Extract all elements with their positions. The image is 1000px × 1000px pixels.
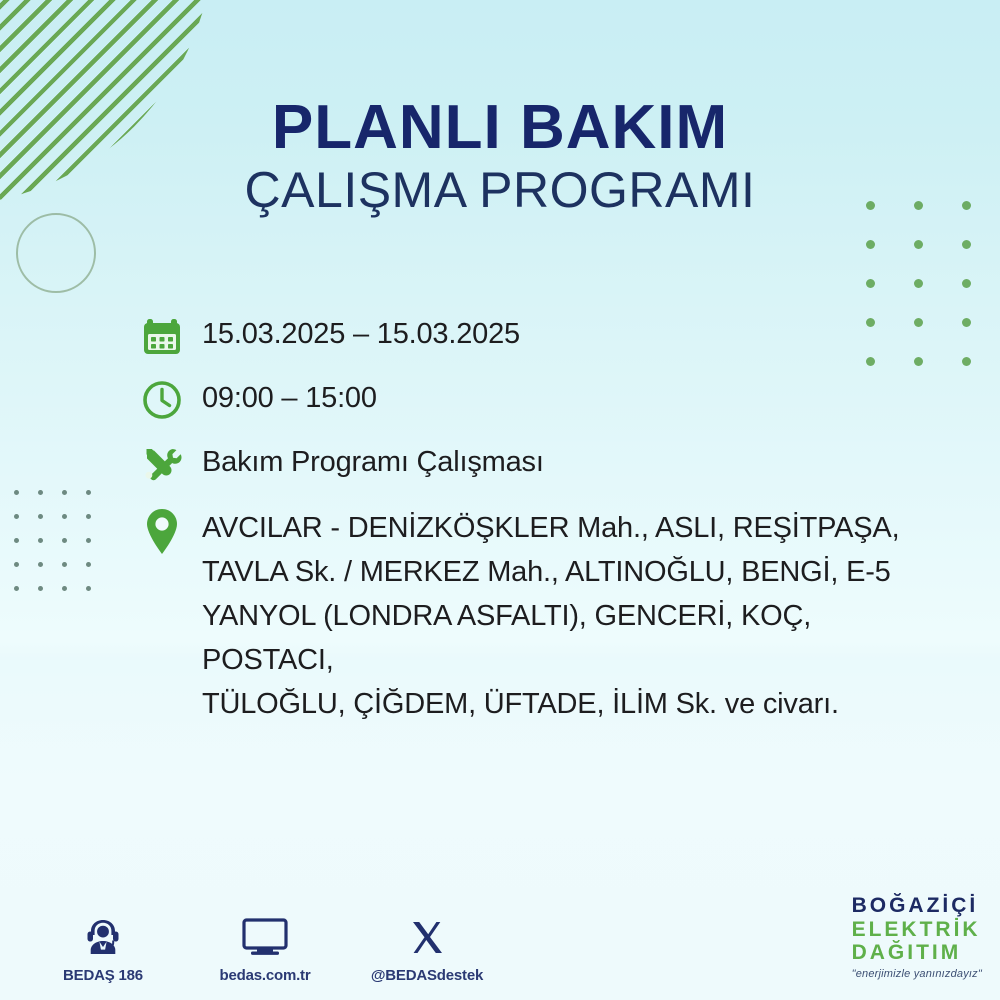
headset-support-icon	[80, 914, 126, 960]
logo-line-bogazici: BOĞAZİÇİ	[852, 894, 982, 918]
bedas-logo: BOĞAZİÇİ ELEKTRİK DAĞITIM "enerjimizle y…	[852, 894, 982, 980]
dot-grid-left-decoration	[14, 490, 110, 610]
tools-icon	[140, 440, 202, 486]
contact-social-label: @BEDASdestek	[371, 967, 483, 984]
location-text: AVCILAR - DENİZKÖŞKLER Mah., ASLI, REŞİT…	[202, 504, 940, 726]
clock-icon	[140, 376, 202, 422]
detail-row-time: 09:00 – 15:00	[140, 376, 940, 422]
contact-website-label: bedas.com.tr	[220, 967, 311, 984]
work-type-text: Bakım Programı Çalışması	[202, 440, 544, 483]
calendar-icon	[140, 312, 202, 358]
detail-row-date: 15.03.2025 – 15.03.2025	[140, 312, 940, 358]
maintenance-details: 15.03.2025 – 15.03.2025 09:00 – 15:00	[140, 312, 940, 744]
contact-social[interactable]: @BEDASdestek	[372, 914, 482, 984]
contact-website[interactable]: bedas.com.tr	[210, 914, 320, 984]
poster-header: PLANLI BAKIM ÇALIŞMA PROGRAMI	[0, 96, 1000, 222]
detail-row-location: AVCILAR - DENİZKÖŞKLER Mah., ASLI, REŞİT…	[140, 504, 940, 726]
x-twitter-icon	[405, 914, 449, 960]
location-line-1: AVCILAR - DENİZKÖŞKLER Mah., ASLI, REŞİT…	[202, 506, 940, 550]
logo-line-dagitim: DAĞITIM	[852, 941, 982, 965]
poster-footer: BEDAŞ 186 bedas.com.tr	[0, 870, 1000, 1000]
contact-list: BEDAŞ 186 bedas.com.tr	[48, 914, 482, 984]
contact-phone-label: BEDAŞ 186	[63, 967, 143, 984]
monitor-icon	[239, 914, 291, 960]
location-line-2: TAVLA Sk. / MERKEZ Mah., ALTINOĞLU, BENG…	[202, 550, 940, 594]
page-title: PLANLI BAKIM	[0, 96, 1000, 159]
date-range-text: 15.03.2025 – 15.03.2025	[202, 312, 520, 355]
location-line-3: YANYOL (LONDRA ASFALTI), GENCERİ, KOÇ, P…	[202, 594, 940, 682]
time-range-text: 09:00 – 15:00	[202, 376, 377, 419]
location-line-4: TÜLOĞLU, ÇİĞDEM, ÜFTADE, İLİM Sk. ve civ…	[202, 682, 940, 726]
detail-row-work-type: Bakım Programı Çalışması	[140, 440, 940, 486]
page-subtitle: ÇALIŞMA PROGRAMI	[0, 159, 1000, 222]
contact-phone[interactable]: BEDAŞ 186	[48, 914, 158, 984]
planned-maintenance-poster: PLANLI BAKIM ÇALIŞMA PROGRAMI	[0, 0, 1000, 1000]
logo-tagline: "enerjimizle yanınızdayız"	[852, 968, 982, 980]
circle-outline-decoration	[16, 213, 96, 293]
logo-line-elektrik: ELEKTRİK	[852, 918, 982, 942]
location-pin-icon	[140, 504, 202, 560]
